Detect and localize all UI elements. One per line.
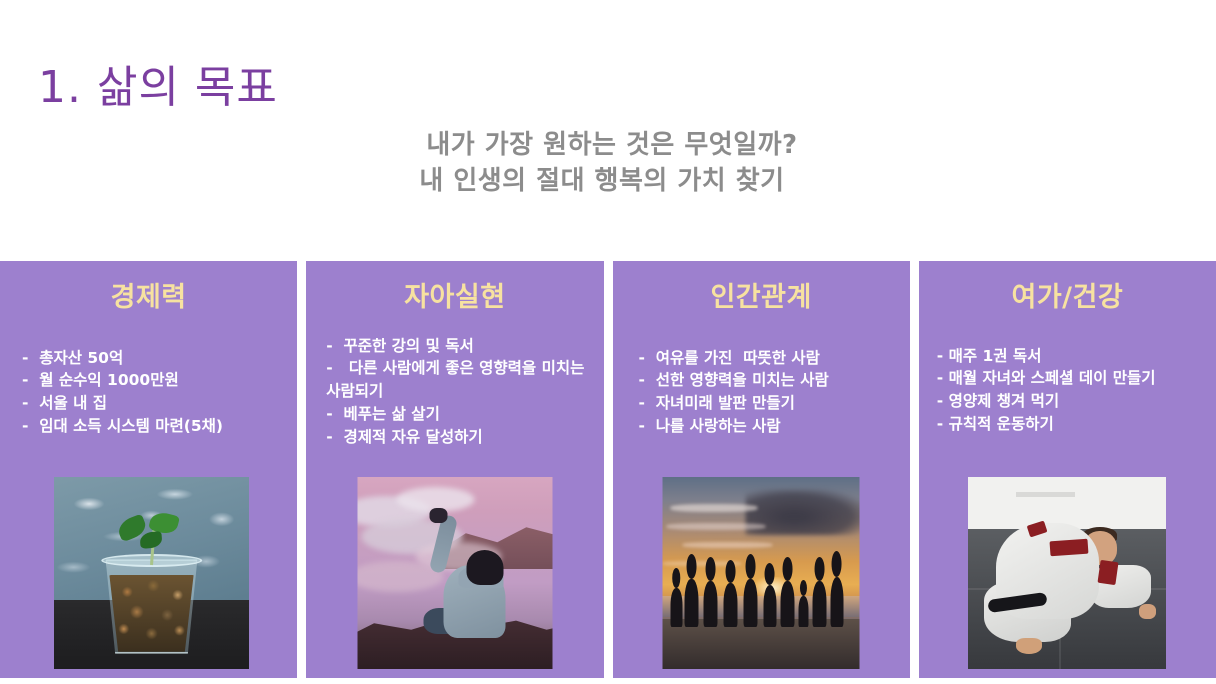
photo-person-silhouette (799, 596, 809, 627)
column-title: 인간관계 (710, 283, 811, 313)
subtitle-block: 내가 가장 원하는 것은 무엇일까? 내 인생의 절대 행복의 가치 찾기 (0, 128, 1216, 200)
photo-cloud-streak (682, 542, 773, 548)
goal-column-leisure-health: 여가/건강 - 매주 1권 독서 - 매월 자녀와 스페셜 데이 만들기 - 영… (919, 261, 1216, 678)
column-title: 자아실현 (404, 283, 505, 313)
list-item: - 나를 사랑하는 사람 (639, 415, 904, 438)
list-item: - 꾸준한 강의 및 독서 (326, 335, 597, 358)
list-item: - 서울 내 집 (22, 392, 289, 415)
subtitle-line-2: 내 인생의 절대 행복의 가치 찾기 (0, 164, 1216, 200)
photo-wall (968, 477, 1166, 529)
column-item-list: - 여유를 가진 따뜻한 사람 - 선한 영향력을 미치는 사람 - 자녀미래 … (613, 347, 910, 438)
goal-column-self-actualization: 자아실현 - 꾸준한 강의 및 독서 - 다른 사람에게 좋은 영향력을 미치는… (306, 261, 603, 678)
group-holding-hands-sunset-beach-photo (663, 477, 860, 669)
column-item-list: - 총자산 50억 - 월 순수익 1000만원 - 서울 내 집 - 임대 소… (0, 347, 297, 438)
goal-column-relationships: 인간관계 - 여유를 가진 따뜻한 사람 - 선한 영향력을 미치는 사람 - … (613, 261, 910, 678)
list-item: - 월 순수익 1000만원 (22, 369, 289, 392)
list-item: - 다른 사람에게 좋은 영향력을 미치는 사람되기 (326, 357, 597, 403)
presentation-slide: 1. 삶의 목표 내가 가장 원하는 것은 무엇일까? 내 인생의 절대 행복의… (0, 0, 1216, 684)
photo-person-hood (467, 550, 504, 585)
photo-athlete-hand (1016, 638, 1042, 653)
list-item: - 총자산 50억 (22, 347, 289, 370)
list-item: - 규칙적 운동하기 (937, 413, 1210, 436)
photo-person-silhouette (743, 579, 757, 627)
page-title: 1. 삶의 목표 (38, 51, 278, 115)
column-item-list: - 매주 1권 독서 - 매월 자녀와 스페셜 데이 만들기 - 영양제 챙겨 … (919, 345, 1216, 436)
list-item: - 임대 소득 시스템 마련(5채) (22, 415, 289, 438)
subtitle-line-1: 내가 가장 원하는 것은 무엇일까? (0, 128, 1216, 164)
photo-person-silhouette (812, 581, 826, 627)
goal-column-economic: 경제력 - 총자산 50억 - 월 순수익 1000만원 - 서울 내 집 - … (0, 261, 297, 678)
list-item: - 매월 자녀와 스페셜 데이 만들기 (937, 367, 1210, 390)
goal-columns: 경제력 - 총자산 50억 - 월 순수익 1000만원 - 서울 내 집 - … (0, 261, 1216, 678)
column-item-list: - 꾸준한 강의 및 독서 - 다른 사람에게 좋은 영향력을 미치는 사람되기… (306, 335, 603, 449)
photo-person-silhouette (763, 585, 777, 627)
photo-coins (108, 575, 196, 652)
photo-gi-patch (1098, 560, 1119, 585)
list-item: - 매주 1권 독서 (937, 345, 1210, 368)
list-item: - 경제적 자유 달성하기 (326, 426, 597, 449)
jiu-jitsu-grappling-photo (968, 477, 1166, 669)
photo-person-silhouette (684, 579, 698, 627)
photo-person-silhouette (781, 581, 795, 627)
column-title: 경제력 (111, 283, 187, 313)
photo-person-fist (430, 508, 448, 523)
list-item: - 베푸는 삶 살기 (326, 403, 597, 426)
list-item: - 선한 영향력을 미치는 사람 (639, 369, 904, 392)
photo-athlete-hand (1139, 604, 1157, 619)
photo-person-silhouette (830, 577, 844, 627)
column-title: 여가/건강 (1012, 283, 1124, 313)
photo-wall-trim (1016, 492, 1075, 497)
photo-cloud-streak (667, 523, 766, 530)
photo-cloud-streak (671, 504, 758, 512)
list-item: - 여유를 가진 따뜻한 사람 (639, 347, 904, 370)
person-raising-fist-above-clouds-photo (357, 477, 552, 669)
coins-jar-sprout-photo (54, 477, 249, 669)
photo-person-silhouette (704, 581, 718, 627)
photo-person-silhouette (724, 583, 738, 627)
photo-person-silhouette (671, 588, 683, 626)
list-item: - 영양제 챙겨 먹기 (937, 390, 1210, 413)
list-item: - 자녀미래 발판 만들기 (639, 392, 904, 415)
